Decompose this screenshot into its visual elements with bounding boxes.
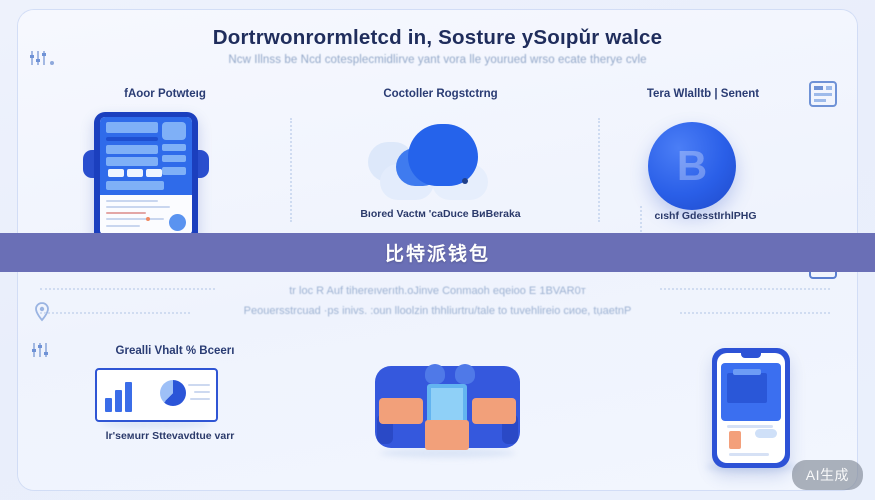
illustration-tablet-device [83, 112, 209, 244]
ui-block [162, 122, 186, 140]
watermark-label: AI生成 [806, 467, 849, 483]
divider-vertical-1 [290, 118, 292, 222]
ui-block [127, 169, 143, 177]
illustration-token-circle: B [648, 122, 736, 210]
ui-line [106, 212, 146, 214]
ui-block [727, 373, 767, 403]
chart-legend-line [194, 391, 210, 393]
ui-block [106, 157, 158, 166]
ui-dot [146, 217, 150, 221]
chart-legend-line [188, 384, 210, 386]
phone-body [712, 348, 790, 468]
ui-line [106, 200, 158, 202]
illustration-people-sofa [375, 358, 520, 456]
chart-bar [115, 390, 122, 412]
phone-notch [741, 353, 761, 358]
overlay-banner: 比特派钱包 [0, 233, 875, 272]
ui-block [108, 169, 124, 177]
ui-block [106, 181, 164, 190]
chart-bar [105, 398, 112, 412]
tablet-screen-body [100, 195, 192, 235]
page-title: Dortrwonrormletcd in, Sosture ySoıpǔr wa… [0, 26, 875, 50]
ui-block [733, 369, 761, 375]
chart-legend-line [190, 398, 210, 400]
banner-title: 比特派钱包 [385, 239, 490, 266]
ui-line [106, 206, 170, 208]
person-head [425, 364, 445, 384]
section-heading-4: Grealli Vhalt % Bceerı [60, 345, 290, 357]
blob-shape [408, 124, 478, 186]
ui-line [106, 218, 164, 220]
ai-generated-watermark: AI生成 [792, 460, 863, 490]
section-caption-4: lr'seмurr Sttevavdtue varr [40, 430, 300, 442]
ui-line [727, 425, 773, 428]
tablet-screen [100, 117, 192, 235]
divider-vertical-2 [598, 118, 600, 222]
section-heading-2: Coctoller Rogstctrng [328, 88, 553, 100]
tablet-body [94, 112, 198, 244]
illustration-chart-card [95, 368, 218, 422]
section-caption-2: Bıored Vactм 'caDuce BиBeraka [328, 208, 553, 220]
illustration-phone-device [712, 348, 790, 468]
panel-icon-top-right [808, 80, 838, 111]
person-lap [425, 420, 469, 450]
mid-line-1: tr loc R Auf tihereıverıth.oJinve Conmao… [0, 285, 875, 297]
ui-line [106, 225, 140, 227]
section-heading-3: Tera Wlalltb | Senent [598, 88, 808, 100]
token-badge: B [648, 122, 736, 210]
chart-bar [125, 382, 132, 412]
phone-screen [717, 353, 785, 463]
ui-card [729, 431, 741, 449]
section-heading-1: fAoor Potwteıg [40, 88, 290, 100]
blob-dot [462, 178, 468, 184]
person-torso [379, 398, 423, 424]
ui-pill [755, 429, 777, 438]
mid-line-2: Peouersstrcuad ·ps inivs. :oun lloolzin … [0, 305, 875, 317]
person-head [455, 364, 475, 384]
page-subtitle: Ncw Illnss be Ncd cotesplecmidlirve yant… [0, 54, 875, 66]
ui-block [162, 167, 186, 175]
ui-block [146, 169, 162, 177]
bitcoin-b-icon: B [677, 145, 707, 187]
section-caption-3: cıshf GdesstIrhlPHG [598, 210, 813, 222]
ui-block [106, 145, 158, 154]
ui-block [106, 122, 158, 133]
ui-block [106, 137, 158, 141]
person-torso [472, 398, 516, 424]
ui-line [729, 453, 769, 456]
chart-pie [160, 380, 186, 406]
infographic-canvas: Dortrwonrormletcd in, Sosture ySoıpǔr wa… [0, 0, 875, 500]
sliders-icon-bottom [30, 340, 60, 363]
illustration-cloud-blob [360, 112, 520, 212]
ui-badge [169, 214, 186, 231]
ui-block [162, 155, 186, 162]
ui-block [162, 144, 186, 151]
